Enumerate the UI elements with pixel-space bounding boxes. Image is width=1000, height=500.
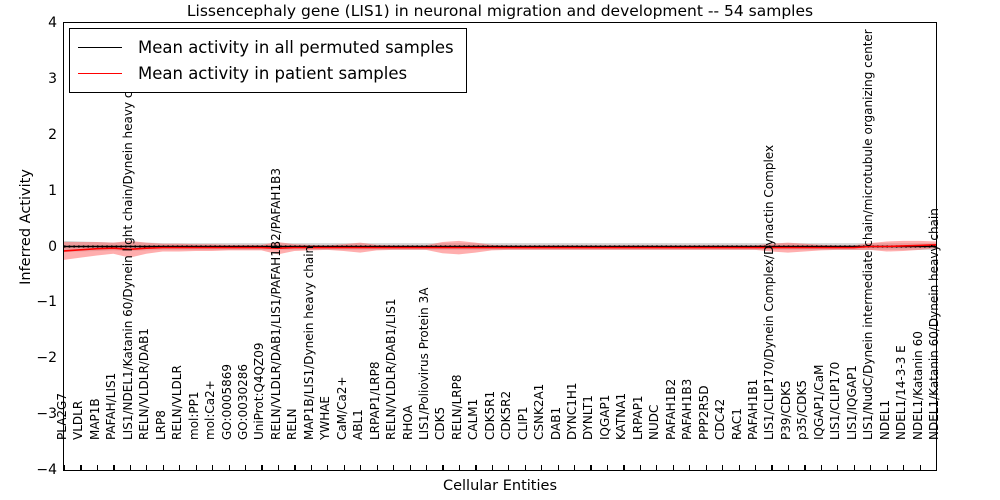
x-tick-mark xyxy=(377,465,378,471)
x-tick-mark xyxy=(360,465,361,471)
x-tick-mark xyxy=(80,465,81,471)
x-tick-label: CDK5 xyxy=(434,407,446,440)
x-tick-mark xyxy=(196,465,197,471)
x-tick-mark xyxy=(656,465,657,471)
legend-entry-patient: Mean activity in patient samples xyxy=(78,60,454,86)
x-tick-label: MAP1B xyxy=(89,398,101,440)
x-tick-mark xyxy=(706,465,707,471)
x-tick-label: mol:PP1 xyxy=(188,391,200,440)
legend-line-black xyxy=(78,47,122,48)
legend-entry-permuted: Mean activity in all permuted samples xyxy=(78,34,454,60)
x-tick-label: LIS1/IQGAP1 xyxy=(846,365,858,440)
x-tick-label: p35/CDK5 xyxy=(796,380,808,440)
x-tick-label: LRPAP1 xyxy=(632,395,644,440)
x-tick-mark xyxy=(163,465,164,471)
x-tick-mark xyxy=(689,465,690,471)
x-tick-mark xyxy=(113,465,114,471)
x-tick-label: CLIP1 xyxy=(517,407,529,440)
x-tick-mark xyxy=(245,465,246,471)
x-tick-mark xyxy=(590,465,591,471)
x-tick-label: RELN/VLDLR xyxy=(171,365,183,440)
x-tick-mark xyxy=(442,465,443,471)
legend-label-patient: Mean activity in patient samples xyxy=(138,64,407,83)
x-tick-mark xyxy=(146,465,147,471)
x-tick-mark xyxy=(821,465,822,471)
x-tick-label: ABL1 xyxy=(352,409,364,440)
x-tick-label: IQGAP1/CaM xyxy=(813,365,825,441)
x-tick-label: RELN/VLDLR/DAB1 xyxy=(138,328,150,440)
x-tick-label: RHOA xyxy=(402,405,414,440)
x-tick-label: CALM1 xyxy=(467,399,479,440)
x-tick-label: PLA2G7 xyxy=(56,393,68,440)
x-tick-label: mol:Ca2+ xyxy=(204,380,216,440)
x-tick-mark xyxy=(525,465,526,471)
x-tick-label: RELN/VLDLR/DAB1/LIS1/PAFAH1B2/PAFAH1B3 xyxy=(270,168,282,440)
x-tick-label: RAC1 xyxy=(731,408,743,440)
x-tick-label: UniProt:Q4QZ09 xyxy=(253,342,265,440)
x-tick-mark xyxy=(459,465,460,471)
x-tick-label: VLDLR xyxy=(72,401,84,440)
x-tick-label: DYNC1H1 xyxy=(566,382,578,440)
x-tick-label: NDEL1 xyxy=(879,400,891,440)
x-tick-label: PAFAH/LIS1 xyxy=(105,373,117,440)
x-tick-label: LIS1/CLIP170/Dynein Complex/Dynactin Com… xyxy=(763,145,775,440)
x-tick-mark xyxy=(261,465,262,471)
x-tick-mark xyxy=(508,465,509,471)
x-tick-label: YWHAE xyxy=(319,396,331,440)
x-tick-mark xyxy=(64,465,65,471)
x-tick-label: LRP8 xyxy=(155,410,167,440)
x-tick-label: CaM/Ca2+ xyxy=(336,376,348,440)
x-tick-label: CDK5R1 xyxy=(484,391,496,440)
x-tick-label: PPP2R5D xyxy=(698,385,710,440)
x-tick-label: NDEL1/14-3-3 E xyxy=(895,345,907,440)
x-axis-label: Cellular Entities xyxy=(0,478,1000,494)
x-tick-mark xyxy=(344,465,345,471)
x-tick-label: IQGAP1 xyxy=(599,395,611,440)
x-tick-label: LIS1/NudC/Dynein intermediate chain/micr… xyxy=(862,29,874,440)
x-tick-mark xyxy=(212,465,213,471)
x-tick-mark xyxy=(804,465,805,471)
x-tick-mark xyxy=(475,465,476,471)
x-tick-label: DAB1 xyxy=(550,407,562,440)
x-tick-label: NUDC xyxy=(648,405,660,440)
x-tick-label: DYNLT1 xyxy=(582,395,594,440)
x-tick-mark xyxy=(410,465,411,471)
x-tick-label: P39/CDK5 xyxy=(780,380,792,440)
x-tick-mark xyxy=(179,465,180,471)
x-tick-mark xyxy=(426,465,427,471)
x-tick-mark xyxy=(870,465,871,471)
x-tick-label: RELN xyxy=(286,408,298,440)
x-tick-label: KATNA1 xyxy=(615,393,627,440)
chart-legend: Mean activity in all permuted samples Me… xyxy=(69,28,467,93)
x-tick-mark xyxy=(854,465,855,471)
x-tick-label: LIS1/CLIP170 xyxy=(829,362,841,440)
x-tick-label: PAFAH1B3 xyxy=(681,379,693,440)
x-tick-mark xyxy=(607,465,608,471)
x-tick-mark xyxy=(739,465,740,471)
x-tick-label: CDK5R2 xyxy=(500,391,512,440)
x-tick-label: CDC42 xyxy=(714,399,726,440)
x-tick-mark xyxy=(393,465,394,471)
x-tick-mark xyxy=(722,465,723,471)
x-tick-mark xyxy=(788,465,789,471)
x-tick-mark xyxy=(492,465,493,471)
x-tick-label: RELN/LRP8 xyxy=(451,374,463,440)
x-tick-label: LIS1/Poliovirus Protein 3A xyxy=(418,288,430,440)
x-tick-label: RELN/VLDLR/DAB1/LIS1 xyxy=(385,299,397,440)
x-tick-label: LRPAP1/LRP8 xyxy=(369,361,381,440)
x-tick-mark xyxy=(311,465,312,471)
x-tick-label: MAP1B/LIS1/Dynein heavy chain xyxy=(303,246,315,440)
x-tick-mark xyxy=(97,465,98,471)
legend-label-permuted: Mean activity in all permuted samples xyxy=(138,38,454,57)
x-tick-mark xyxy=(887,465,888,471)
x-tick-label: PAFAH1B2 xyxy=(665,379,677,440)
x-tick-mark xyxy=(327,465,328,471)
x-tick-label: PAFAH1B1 xyxy=(747,379,759,440)
x-tick-mark xyxy=(130,465,131,471)
x-tick-mark xyxy=(903,465,904,471)
x-tick-mark xyxy=(623,465,624,471)
x-tick-mark xyxy=(920,465,921,471)
x-tick-label: GO:0005869 xyxy=(221,364,233,440)
x-tick-mark xyxy=(936,465,937,471)
x-tick-mark xyxy=(229,465,230,471)
x-tick-mark xyxy=(294,465,295,471)
x-tick-label: CSNK2A1 xyxy=(533,384,545,440)
x-tick-mark xyxy=(541,465,542,471)
x-tick-mark xyxy=(558,465,559,471)
x-tick-mark xyxy=(278,465,279,471)
x-tick-mark xyxy=(771,465,772,471)
x-tick-label: NDEL1/Katanin 60 xyxy=(912,331,924,440)
x-tick-mark xyxy=(640,465,641,471)
x-tick-mark xyxy=(837,465,838,471)
x-tick-mark xyxy=(755,465,756,471)
x-tick-mark xyxy=(673,465,674,471)
x-tick-label: LIS1/NDEL1/Katanin 60/Dynein light chain… xyxy=(122,66,134,440)
x-tick-mark xyxy=(574,465,575,471)
figure-canvas: Lissencephaly gene (LIS1) in neuronal mi… xyxy=(0,0,1000,500)
x-tick-label: NDEL1/Katanin 60/Dynein heavy chain xyxy=(928,208,940,440)
legend-line-red xyxy=(78,73,122,74)
x-tick-label: GO:0030286 xyxy=(237,364,249,440)
